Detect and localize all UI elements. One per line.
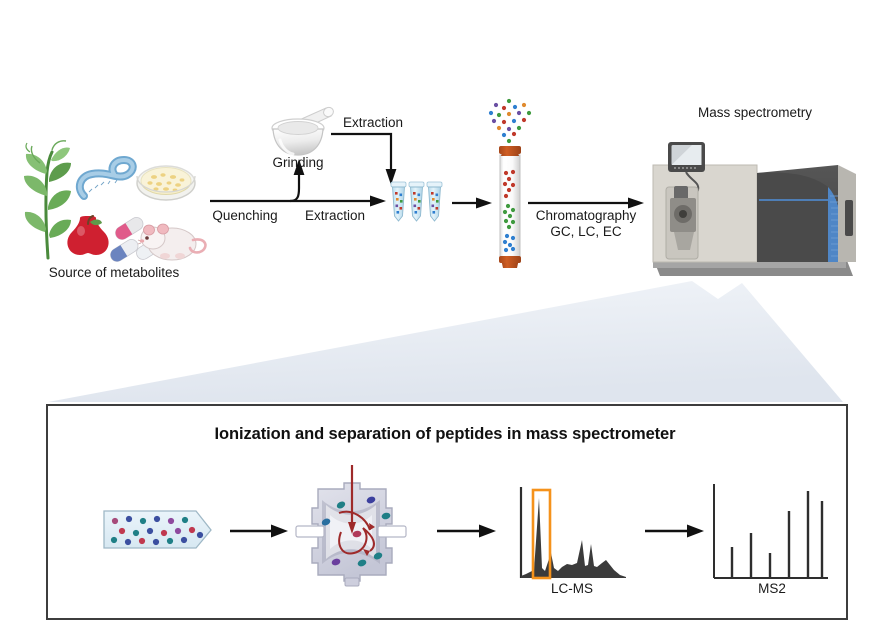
arrow-column-to-ms (528, 198, 644, 209)
lc-ms-label: LC-MS (551, 581, 593, 598)
tube-3 (427, 182, 442, 221)
worm-icon (80, 160, 133, 196)
tube-1 (391, 182, 406, 221)
mass-spectrometry-label: Mass spectrometry (698, 105, 812, 122)
lcms-trace (521, 498, 626, 578)
plant-icon (24, 141, 71, 258)
extraction-grinding-label: Extraction (343, 115, 403, 132)
ms2-bars (732, 491, 822, 578)
ms-pump-icon (666, 186, 698, 259)
arrow-grinding-to-tubes (331, 134, 396, 185)
column-spray (489, 99, 531, 143)
ionization-chamber-icon (296, 465, 406, 586)
chromatography-column (489, 99, 531, 268)
grinding-label: Grinding (272, 155, 323, 172)
extraction-main-label: Extraction (305, 208, 365, 225)
mortar-pestle-icon (272, 106, 335, 155)
source-of-metabolites-label: Source of metabolites (49, 265, 180, 282)
sample-tubes-group (391, 182, 442, 221)
arrow-chamber-to-lcms (437, 525, 496, 538)
ms2-label: MS2 (758, 581, 786, 598)
ms2-spectrum (714, 484, 828, 578)
quenching-label: Quenching (212, 208, 277, 225)
arrow-tubes-to-column (452, 198, 492, 209)
arrow-lcms-to-ms2 (645, 525, 704, 538)
petri-dish-icon (137, 160, 195, 200)
tube-2 (409, 182, 424, 221)
chromatography-label-line1: Chromatography (536, 208, 637, 225)
mass-spectrometer-icon (653, 142, 856, 276)
figure-canvas: Source of metabolites Grinding Extractio… (0, 0, 890, 632)
lc-ms-chromatogram (521, 487, 626, 578)
sample-inlet-icon (104, 511, 211, 548)
apple-icon (67, 216, 108, 255)
ms-screen-icon (668, 142, 705, 172)
chromatography-label-line2: GC, LC, EC (550, 224, 621, 241)
panel-title: Ionization and separation of peptides in… (215, 425, 676, 444)
diagram-layer (0, 0, 890, 632)
arrow-inlet-to-chamber (230, 525, 288, 538)
